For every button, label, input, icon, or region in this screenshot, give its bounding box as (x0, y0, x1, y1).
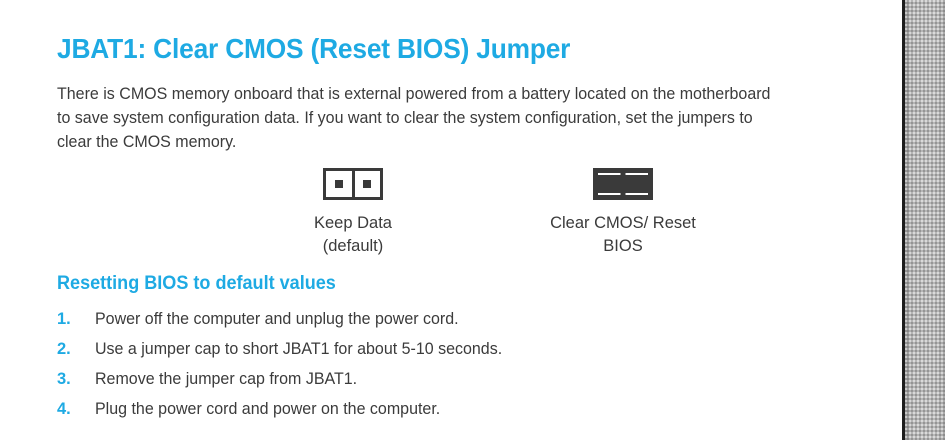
jumper-diagram-row: Keep Data (default) Clear CMOS/ Reset BI… (57, 168, 857, 264)
jumper-notch-top-icon (621, 171, 626, 175)
jumper-caption-line-1: Clear CMOS/ Reset (508, 212, 738, 235)
jumper-keep-data: Keep Data (default) (238, 168, 468, 258)
list-item: 2. Use a jumper cap to short JBAT1 for a… (57, 338, 857, 360)
step-number: 1. (57, 308, 95, 330)
jumper-notch-bottom-icon (621, 193, 626, 197)
jumper-clear-cmos: Clear CMOS/ Reset BIOS (508, 168, 738, 258)
jumper-caption-line-1: Keep Data (238, 212, 468, 235)
intro-paragraph: There is CMOS memory onboard that is ext… (57, 82, 775, 154)
page-edge-scrollbar-strip[interactable] (902, 0, 945, 440)
pin-cell-1 (326, 171, 352, 197)
document-page: JBAT1: Clear CMOS (Reset BIOS) Jumper Th… (0, 0, 902, 440)
step-text: Use a jumper cap to short JBAT1 for abou… (95, 338, 834, 360)
step-number: 2. (57, 338, 95, 360)
step-text: Power off the computer and unplug the po… (95, 308, 834, 330)
jumper-cap-body (598, 173, 648, 195)
step-text: Plug the power cord and power on the com… (95, 398, 834, 420)
pin-dot-icon (335, 180, 343, 188)
jumper-clear-cmos-caption: Clear CMOS/ Reset BIOS (508, 212, 738, 258)
list-item: 4. Plug the power cord and power on the … (57, 398, 857, 420)
jumper-caption-line-2: (default) (238, 235, 468, 258)
list-item: 1. Power off the computer and unplug the… (57, 308, 857, 330)
section-heading-resetting-bios: Resetting BIOS to default values (57, 272, 817, 296)
page-title: JBAT1: Clear CMOS (Reset BIOS) Jumper (57, 32, 809, 66)
page-content: JBAT1: Clear CMOS (Reset BIOS) Jumper Th… (57, 32, 857, 428)
list-item: 3. Remove the jumper cap from JBAT1. (57, 368, 857, 390)
jumper-capped-icon (508, 168, 738, 202)
step-number: 4. (57, 398, 95, 420)
jumper-keep-data-caption: Keep Data (default) (238, 212, 468, 258)
step-number: 3. (57, 368, 95, 390)
pin-cell-2 (352, 171, 381, 197)
pin-dot-icon (363, 180, 371, 188)
step-text: Remove the jumper cap from JBAT1. (95, 368, 834, 390)
steps-list: 1. Power off the computer and unplug the… (57, 308, 857, 420)
jumper-open-icon (238, 168, 468, 202)
jumper-caption-line-2: BIOS (508, 235, 738, 258)
